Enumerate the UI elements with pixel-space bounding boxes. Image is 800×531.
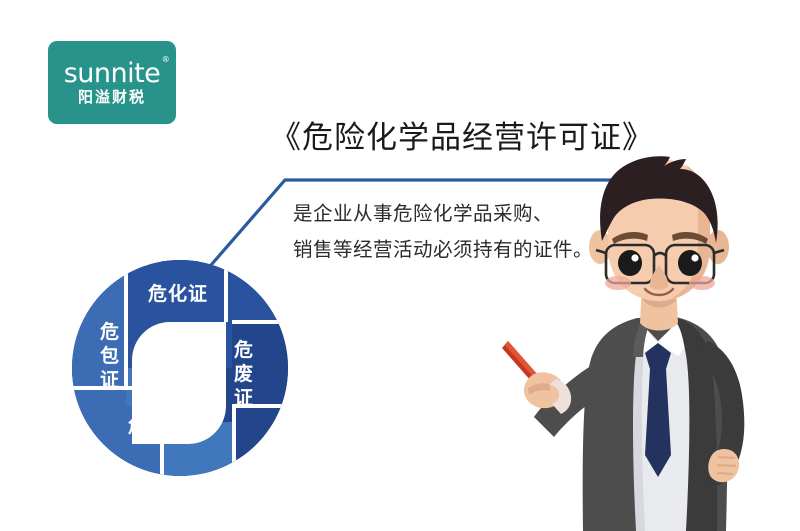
poster-canvas: sunnite ® 阳溢财税 《危险化学品经营许可证》 是企业从事危险化学品采购… [0, 0, 800, 531]
blush-left [605, 276, 631, 290]
pinwheel-label-top: 危化证 [148, 285, 208, 305]
eye-left [618, 250, 642, 276]
sunnite-logo[interactable]: sunnite ® 阳溢财税 [48, 41, 176, 124]
logo-wordmark: sunnite ® [64, 60, 161, 87]
pinwheel-label-right: 危 废 证 [233, 338, 255, 410]
registered-trademark-icon: ® [162, 56, 170, 64]
logo-wordmark-text: sunnite [64, 58, 161, 89]
eye-right [678, 250, 702, 276]
page-title: 《危险化学品经营许可证》 [270, 120, 650, 157]
pinwheel-label-left: 危 包 证 [99, 320, 121, 392]
eye-right-highlight [691, 254, 698, 261]
eye-left-highlight [631, 254, 638, 261]
presenter-illustration [490, 155, 800, 531]
logo-chinese-name: 阳溢财税 [78, 90, 146, 105]
pinwheel-label-bottom: 危运证 [128, 417, 188, 437]
blush-right [689, 276, 715, 290]
